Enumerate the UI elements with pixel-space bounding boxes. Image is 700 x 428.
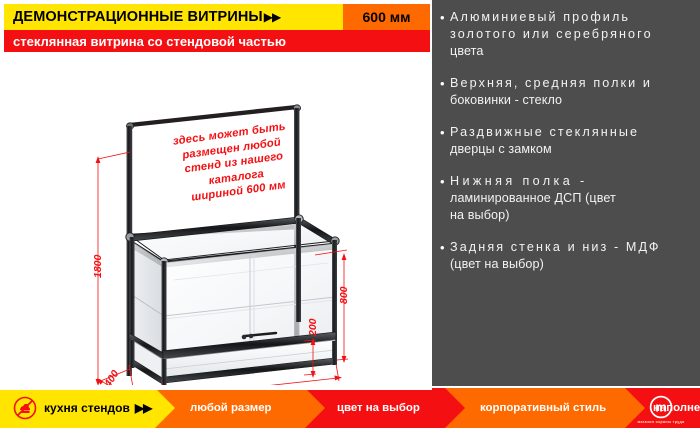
feature-3-line-1: ламинированное ДСП (цвет [450, 190, 690, 207]
bottom-banner: кухня стендов ▶▶ любой размер цвет на вы… [0, 388, 700, 428]
brand-m-circle-icon: m [649, 395, 673, 419]
feature-2-line-1: дверцы с замком [450, 141, 690, 158]
feature-4-line-1: (цвет на выбор) [450, 256, 690, 273]
feature-3-line-2: на выбор) [450, 207, 690, 224]
feature-item-0: • Алюминиевый профиль золотого или сереб… [440, 9, 690, 60]
header-title-row: ДЕМОНСТРАЦИОННЫЕ ВИТРИНЫ ▶▶ 600 мм [4, 4, 430, 30]
banner-label-0: кухня стендов [44, 401, 130, 415]
feature-text-4: Задняя стенка и низ - МДФ (цвет на выбор… [450, 239, 690, 273]
banner-label-1: любой размер [190, 402, 272, 414]
page-title: ДЕМОНСТРАЦИОННЫЕ ВИТРИНЫ [13, 9, 263, 25]
left-column: ДЕМОНСТРАЦИОННЫЕ ВИТРИНЫ ▶▶ 600 мм стекл… [4, 4, 430, 385]
brand-tagline: магазин охраны труда [638, 420, 685, 424]
title-banner: ДЕМОНСТРАЦИОННЫЕ ВИТРИНЫ ▶▶ [4, 4, 343, 30]
feature-3-line-0: Нижняя полка - [450, 173, 690, 190]
feature-2-line-0: Раздвижные стеклянные [450, 124, 690, 141]
feature-1-line-1: боковинки - стекло [450, 92, 690, 109]
banner-top-divider [0, 388, 432, 390]
banner-segment-any-size[interactable]: любой размер [160, 388, 320, 428]
banner-arrows-icon: ▶▶ [135, 401, 151, 415]
feature-1-line-0: Верхняя, средняя полки и [450, 75, 690, 92]
bullet-icon: • [440, 124, 450, 158]
feature-text-2: Раздвижные стеклянные дверцы с замком [450, 124, 690, 158]
dimension-label-height: 1800 [92, 255, 104, 278]
banner-label-3: корпоративный стиль [480, 402, 606, 414]
bullet-icon: • [440, 75, 450, 109]
dimension-label-base-height: 200 [307, 318, 319, 336]
banner-label-2: цвет на выбор [337, 402, 420, 414]
bullet-icon: • [440, 239, 450, 273]
feature-text-1: Верхняя, средняя полки и боковинки - сте… [450, 75, 690, 109]
cabinet-technical-drawing [4, 52, 430, 385]
banner-segment-kitchen[interactable]: кухня стендов ▶▶ [0, 388, 175, 428]
features-panel: • Алюминиевый профиль золотого или сереб… [432, 0, 700, 386]
size-badge-label: 600 мм [363, 9, 411, 25]
subtitle-bar: стеклянная витрина со стендовой частью [4, 30, 430, 52]
feature-0-line-2: цвета [450, 43, 690, 60]
brand-logo[interactable]: m магазин охраны труда [625, 391, 697, 427]
feature-0-line-1: золотого или серебряного [450, 26, 690, 43]
feature-4-line-0: Задняя стенка и низ - МДФ [450, 239, 690, 256]
subtitle-label: стеклянная витрина со стендовой частью [13, 34, 286, 49]
size-badge: 600 мм [343, 4, 430, 30]
banner-segment-corporate-style[interactable]: корпоративный стиль [450, 388, 640, 428]
svg-text:m: m [655, 399, 667, 414]
feature-text-0: Алюминиевый профиль золотого или серебря… [450, 9, 690, 60]
product-drawing: здесь может быть размещен любой стенд из… [4, 52, 430, 385]
dimension-label-cabinet-height: 800 [338, 286, 350, 304]
feature-item-1: • Верхняя, средняя полки и боковинки - с… [440, 75, 690, 109]
slide-root: ДЕМОНСТРАЦИОННЫЕ ВИТРИНЫ ▶▶ 600 мм стекл… [0, 0, 700, 428]
banner-segment-color-choice[interactable]: цвет на выбор [305, 388, 465, 428]
feature-text-3: Нижняя полка - ламинированное ДСП (цвет … [450, 173, 690, 224]
feature-item-3: • Нижняя полка - ламинированное ДСП (цве… [440, 173, 690, 224]
chef-hat-icon [13, 396, 37, 420]
feature-item-4: • Задняя стенка и низ - МДФ (цвет на выб… [440, 239, 690, 273]
bullet-icon: • [440, 173, 450, 224]
feature-item-2: • Раздвижные стеклянные дверцы с замком [440, 124, 690, 158]
title-arrows-icon: ▶▶ [264, 11, 280, 23]
feature-0-line-0: Алюминиевый профиль [450, 9, 690, 26]
bullet-icon: • [440, 9, 450, 60]
